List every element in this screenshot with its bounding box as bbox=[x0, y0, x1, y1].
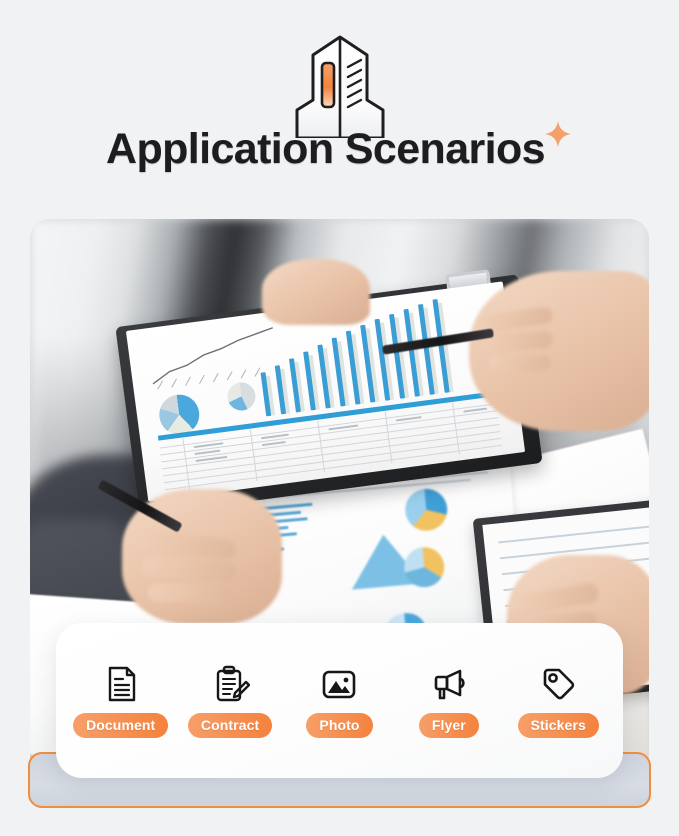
category-label: Stickers bbox=[518, 713, 599, 738]
clipboard-pencil-icon bbox=[210, 664, 250, 704]
title-row: Application Scenarios bbox=[0, 128, 679, 171]
report-pie-chart-2 bbox=[226, 381, 257, 412]
category-photo[interactable]: Photo bbox=[287, 664, 391, 738]
megaphone-icon bbox=[429, 664, 469, 704]
page-title: Application Scenarios bbox=[106, 128, 545, 171]
category-contract[interactable]: Contract bbox=[178, 664, 282, 738]
category-label: Contract bbox=[188, 713, 272, 738]
category-label: Flyer bbox=[419, 713, 479, 738]
category-stickers[interactable]: Stickers bbox=[506, 664, 610, 738]
sparkle-icon bbox=[543, 119, 573, 149]
image-icon bbox=[319, 664, 359, 704]
category-label: Document bbox=[73, 713, 168, 738]
header: Application Scenarios bbox=[0, 0, 679, 206]
category-label: Photo bbox=[306, 713, 372, 738]
building-icon bbox=[275, 34, 405, 138]
category-document[interactable]: Document bbox=[69, 664, 173, 738]
hand-holding-clipboard-top bbox=[262, 259, 370, 325]
document-icon bbox=[101, 664, 141, 704]
tag-icon bbox=[538, 664, 578, 704]
hand-with-pen-top-right bbox=[469, 271, 649, 431]
category-panel: Document Contract Phot bbox=[56, 623, 623, 778]
page-root: Application Scenarios bbox=[0, 0, 679, 836]
category-flyer[interactable]: Flyer bbox=[397, 664, 501, 738]
desk-pie-chart-1 bbox=[404, 487, 450, 533]
